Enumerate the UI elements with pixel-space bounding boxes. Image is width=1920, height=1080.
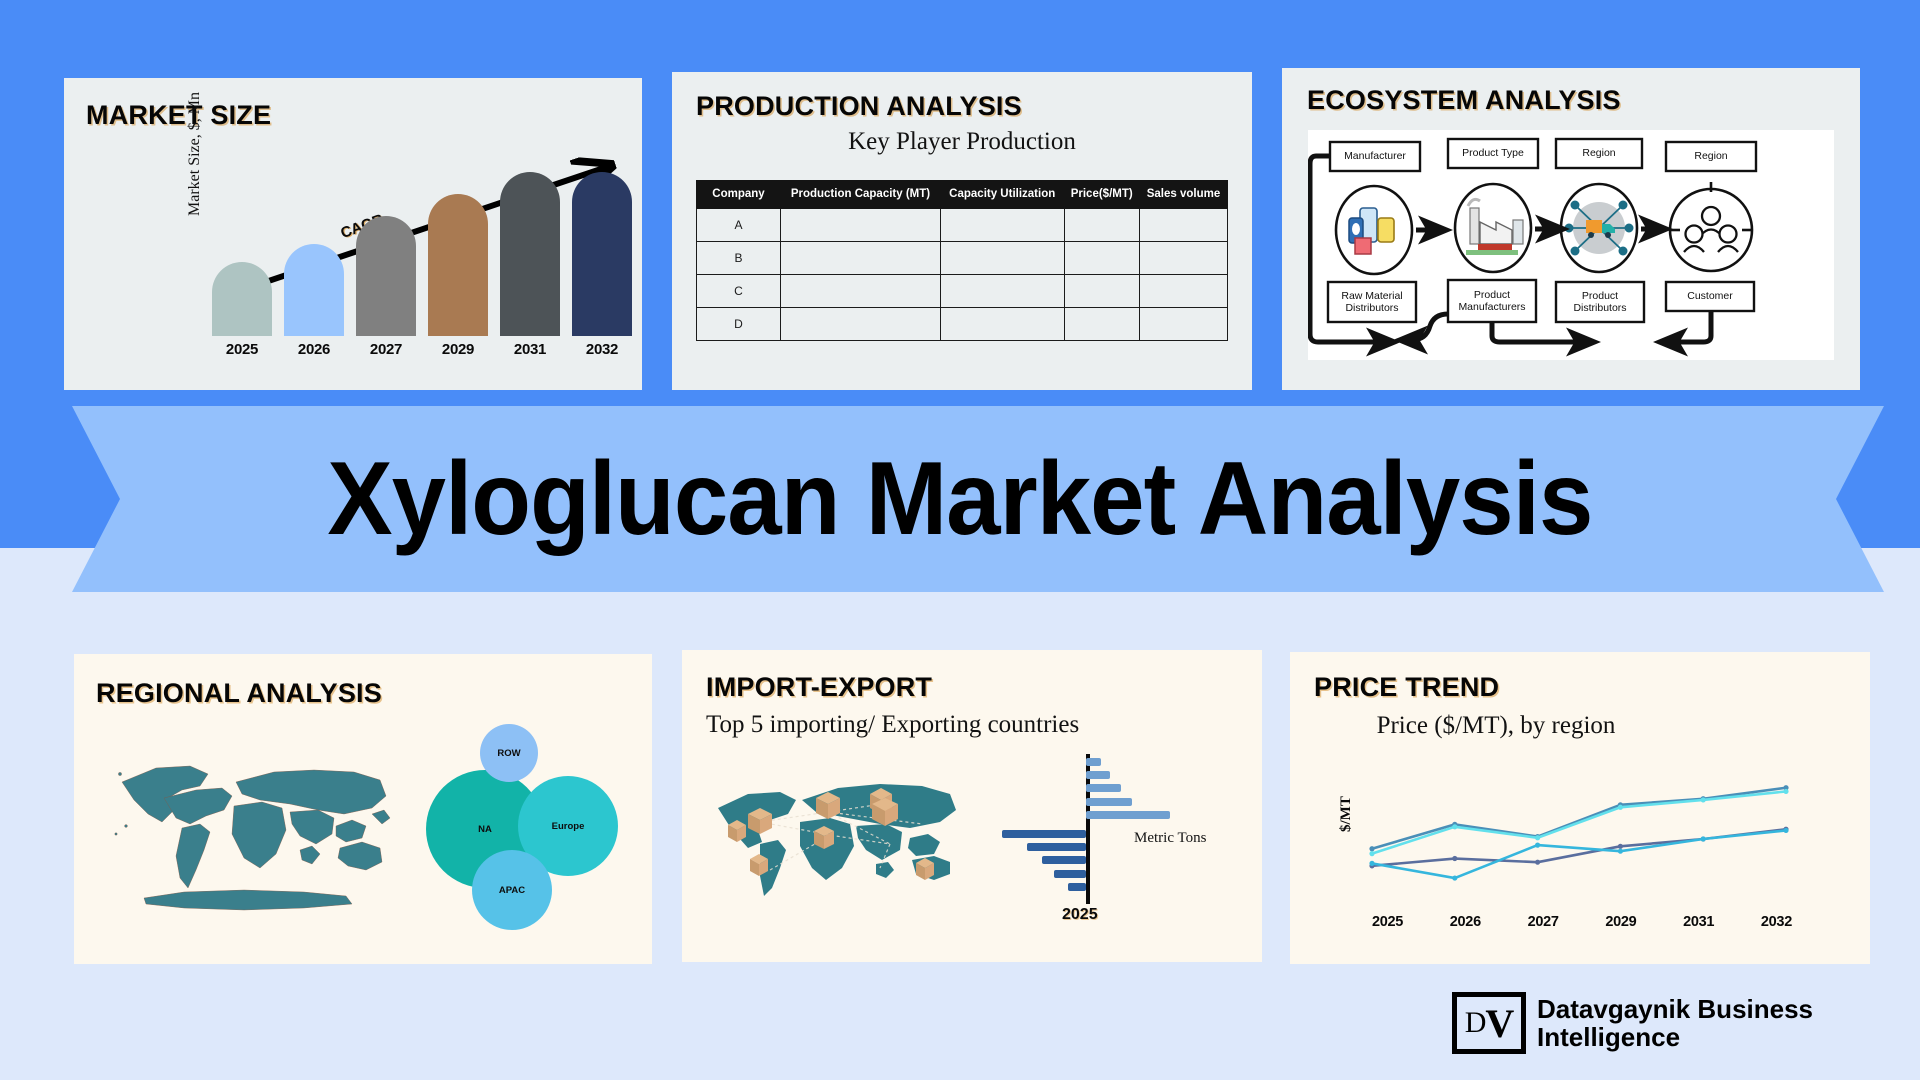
table-cell[interactable]: B: [697, 242, 781, 275]
tornado-bar: [1027, 843, 1086, 851]
ecosystem-bottom-label: Raw Material Distributors: [1328, 282, 1416, 322]
price-trend-series-line: [1372, 791, 1786, 853]
price-trend-year-label: 2031: [1683, 914, 1714, 930]
market-size-bar: [212, 262, 272, 336]
market-size-bar: [356, 216, 416, 336]
tornado-bar: [1002, 830, 1086, 838]
table-cell[interactable]: [1064, 209, 1139, 242]
price-trend-data-point: [1369, 851, 1374, 856]
region-bubble: ROW: [480, 724, 538, 782]
market-size-bars: 202520262027202920312032: [212, 172, 632, 358]
import-export-subtitle: Top 5 importing/ Exporting countries: [706, 711, 1262, 739]
table-cell[interactable]: [940, 242, 1064, 275]
regional-analysis-title: REGIONAL ANALYSIS: [96, 678, 652, 709]
distribution-network-icon: [1565, 201, 1632, 254]
table-row[interactable]: D: [697, 308, 1228, 341]
table-body: ABCD: [697, 209, 1228, 341]
price-trend-year-label: 2025: [1372, 914, 1403, 930]
logo-letter-v: V: [1485, 1000, 1513, 1047]
production-analysis-subtitle: Key Player Production: [672, 128, 1252, 156]
table-cell[interactable]: [940, 308, 1064, 341]
table-column-header: Production Capacity (MT): [781, 181, 941, 209]
company-logo: D V Datavgaynik Business Intelligence: [1452, 992, 1867, 1054]
ecosystem-top-label: Region: [1556, 139, 1642, 168]
price-trend-data-point: [1535, 835, 1540, 840]
table-cell[interactable]: [781, 209, 941, 242]
price-trend-x-axis: 202520262027202920312032: [1372, 914, 1792, 930]
market-size-year-label: 2026: [298, 341, 330, 358]
tornado-bar: [1086, 798, 1132, 806]
price-trend-data-point: [1701, 836, 1706, 841]
tornado-bar: [1054, 870, 1086, 878]
import-export-title: IMPORT-EXPORT: [706, 672, 1262, 703]
table-column-header: Capacity Utilization: [940, 181, 1064, 209]
market-size-bar: [284, 244, 344, 336]
market-size-bar-column: 2025: [212, 172, 272, 358]
market-size-bar: [428, 194, 488, 336]
table-cell[interactable]: [940, 275, 1064, 308]
price-trend-title: PRICE TREND: [1314, 672, 1870, 703]
price-trend-data-point: [1783, 789, 1788, 794]
table-header-row: CompanyProduction Capacity (MT)Capacity …: [697, 181, 1228, 209]
market-size-bar-column: 2031: [500, 172, 560, 358]
market-size-bar-column: 2032: [572, 172, 632, 358]
logo-letter-d: D: [1465, 1006, 1486, 1040]
market-size-bar: [500, 172, 560, 336]
logo-mark-icon: D V: [1452, 992, 1526, 1054]
price-trend-chart: $/MT 202520262027202920312032: [1324, 768, 1844, 948]
market-size-year-label: 2025: [226, 341, 258, 358]
price-trend-data-point: [1535, 860, 1540, 865]
tornado-bar: [1086, 771, 1110, 779]
table-row[interactable]: C: [697, 275, 1228, 308]
table-cell[interactable]: [1064, 275, 1139, 308]
price-trend-data-point: [1618, 844, 1623, 849]
ecosystem-analysis-panel: ECOSYSTEM ANALYSIS: [1282, 68, 1860, 390]
main-title: Xyloglucan Market Analysis: [327, 440, 1592, 559]
region-bubble: APAC: [472, 850, 552, 930]
table-cell[interactable]: [781, 275, 941, 308]
price-trend-subtitle: Price ($/MT), by region: [1346, 711, 1646, 740]
tornado-year-label: 2025: [1062, 906, 1098, 924]
table-cell[interactable]: C: [697, 275, 781, 308]
market-size-chart: Market Size, $, Mn CAGR 2025202620272029…: [64, 156, 642, 386]
ecosystem-bottom-label: Customer: [1666, 282, 1754, 311]
market-size-title: MARKET SIZE: [86, 100, 642, 131]
price-trend-year-label: 2026: [1450, 914, 1481, 930]
tornado-bar: [1068, 883, 1086, 891]
table-cell[interactable]: [1139, 275, 1227, 308]
price-trend-y-axis-label: $/MT: [1338, 796, 1355, 832]
table-cell[interactable]: [1139, 209, 1227, 242]
tornado-bar: [1086, 784, 1121, 792]
price-trend-data-point: [1701, 797, 1706, 802]
tornado-bar: [1086, 758, 1101, 766]
market-size-panel: MARKET SIZE Market Size, $, Mn CAGR 2025…: [64, 78, 642, 390]
table-column-header: Price($/MT): [1064, 181, 1139, 209]
tornado-unit-label: Metric Tons: [1134, 830, 1206, 847]
price-trend-data-point: [1783, 828, 1788, 833]
table-cell[interactable]: A: [697, 209, 781, 242]
table-column-header: Sales volume: [1139, 181, 1227, 209]
price-trend-data-point: [1452, 856, 1457, 861]
import-export-tornado-chart: 2025 Metric Tons: [1012, 754, 1172, 904]
production-analysis-title: PRODUCTION ANALYSIS: [696, 91, 1252, 122]
price-trend-data-point: [1452, 875, 1457, 880]
regional-bubble-chart: NAEuropeAPACROW: [426, 724, 626, 934]
market-size-bar-column: 2027: [356, 172, 416, 358]
table-cell[interactable]: [1064, 308, 1139, 341]
price-trend-data-point: [1369, 846, 1374, 851]
ecosystem-top-label: Manufacturer: [1330, 142, 1420, 171]
market-size-year-label: 2031: [514, 341, 546, 358]
market-size-year-label: 2027: [370, 341, 402, 358]
price-trend-panel: PRICE TREND Price ($/MT), by region $/MT…: [1290, 652, 1870, 964]
market-size-bar: [572, 172, 632, 336]
ecosystem-bottom-label: Product Distributors: [1556, 282, 1644, 322]
title-banner: Xyloglucan Market Analysis: [36, 406, 1884, 592]
ecosystem-diagram: ManufacturerProduct TypeRegionRegionRaw …: [1308, 130, 1834, 360]
table-column-header: Company: [697, 181, 781, 209]
table-cell[interactable]: [781, 242, 941, 275]
price-trend-data-point: [1618, 805, 1623, 810]
price-trend-data-point: [1535, 843, 1540, 848]
market-size-y-axis-label: Market Size, $, Mn: [186, 92, 204, 216]
table-row[interactable]: A: [697, 209, 1228, 242]
ecosystem-analysis-title: ECOSYSTEM ANALYSIS: [1307, 85, 1860, 116]
logo-company-name: Datavgaynik Business Intelligence: [1537, 995, 1867, 1051]
table-cell[interactable]: D: [697, 308, 781, 341]
ecosystem-top-label: Region: [1666, 142, 1756, 171]
production-analysis-panel: PRODUCTION ANALYSIS Key Player Productio…: [672, 72, 1252, 390]
market-size-bar-column: 2026: [284, 172, 344, 358]
tornado-bar: [1086, 811, 1170, 819]
price-trend-year-label: 2029: [1605, 914, 1636, 930]
tornado-bar: [1042, 856, 1086, 864]
price-trend-data-point: [1452, 824, 1457, 829]
trade-routes-map-icon: [704, 764, 994, 914]
table-cell[interactable]: [940, 209, 1064, 242]
ecosystem-bottom-label: Product Manufacturers: [1448, 280, 1536, 322]
market-size-bar-column: 2029: [428, 172, 488, 358]
table-cell[interactable]: [1064, 242, 1139, 275]
market-size-year-label: 2029: [442, 341, 474, 358]
table-cell[interactable]: [781, 308, 941, 341]
table-row[interactable]: B: [697, 242, 1228, 275]
table-cell[interactable]: [1139, 308, 1227, 341]
price-trend-lines: [1324, 768, 1844, 918]
table-cell[interactable]: [1139, 242, 1227, 275]
market-size-year-label: 2032: [586, 341, 618, 358]
price-trend-year-label: 2027: [1528, 914, 1559, 930]
key-player-production-table: CompanyProduction Capacity (MT)Capacity …: [696, 180, 1228, 341]
price-trend-year-label: 2032: [1761, 914, 1792, 930]
price-trend-data-point: [1369, 861, 1374, 866]
price-trend-data-point: [1618, 849, 1623, 854]
world-map-icon: [104, 738, 404, 928]
regional-analysis-panel: REGIONAL ANALYSIS NAEuropeAPACROW: [74, 654, 652, 964]
ecosystem-top-label: Product Type: [1448, 139, 1538, 168]
import-export-panel: IMPORT-EXPORT Top 5 importing/ Exporting…: [682, 650, 1262, 962]
